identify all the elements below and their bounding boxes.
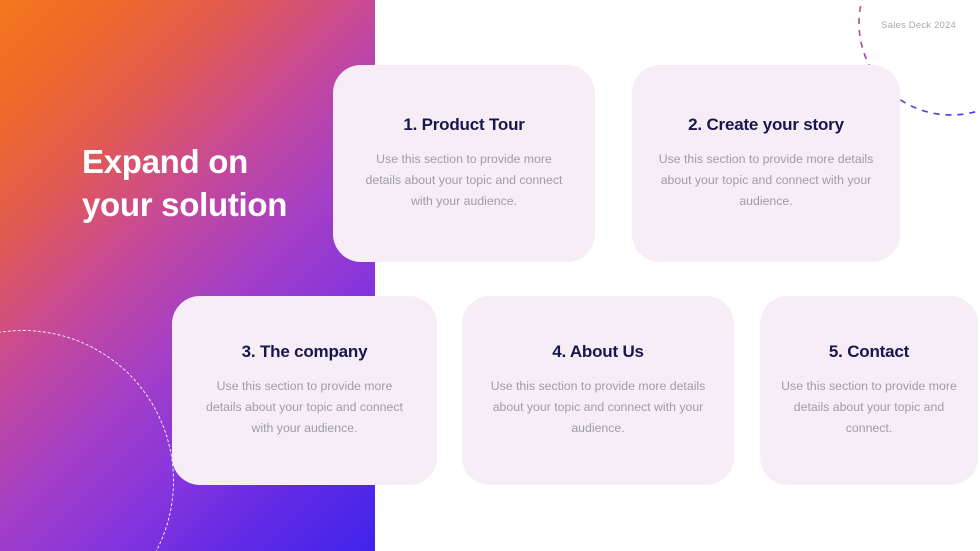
card-body: Use this section to provide more details… (198, 376, 411, 439)
content-card[interactable]: 1. Product Tour Use this section to prov… (333, 65, 595, 262)
slide-label: Sales Deck 2024 (881, 20, 956, 31)
card-title: 5. Contact (829, 342, 909, 362)
slide-canvas: Sales Deck 2024 Expand on your solution … (0, 0, 980, 551)
card-body: Use this section to provide more details… (780, 376, 958, 439)
dashed-circle-icon (0, 330, 174, 551)
card-title: 4. About Us (552, 342, 644, 362)
content-card[interactable]: 4. About Us Use this section to provide … (462, 296, 734, 485)
card-title: 1. Product Tour (403, 115, 524, 135)
page-title-line-2: your solution (82, 183, 362, 226)
page-title-line-1: Expand on (82, 140, 362, 183)
card-body: Use this section to provide more details… (488, 376, 708, 439)
content-card[interactable]: 5. Contact Use this section to provide m… (760, 296, 978, 485)
content-card[interactable]: 2. Create your story Use this section to… (632, 65, 900, 262)
content-card[interactable]: 3. The company Use this section to provi… (172, 296, 437, 485)
card-title: 2. Create your story (688, 115, 844, 135)
card-title: 3. The company (242, 342, 368, 362)
card-body: Use this section to provide more details… (359, 149, 569, 212)
page-title: Expand on your solution (82, 140, 362, 226)
card-body: Use this section to provide more details… (658, 149, 874, 212)
